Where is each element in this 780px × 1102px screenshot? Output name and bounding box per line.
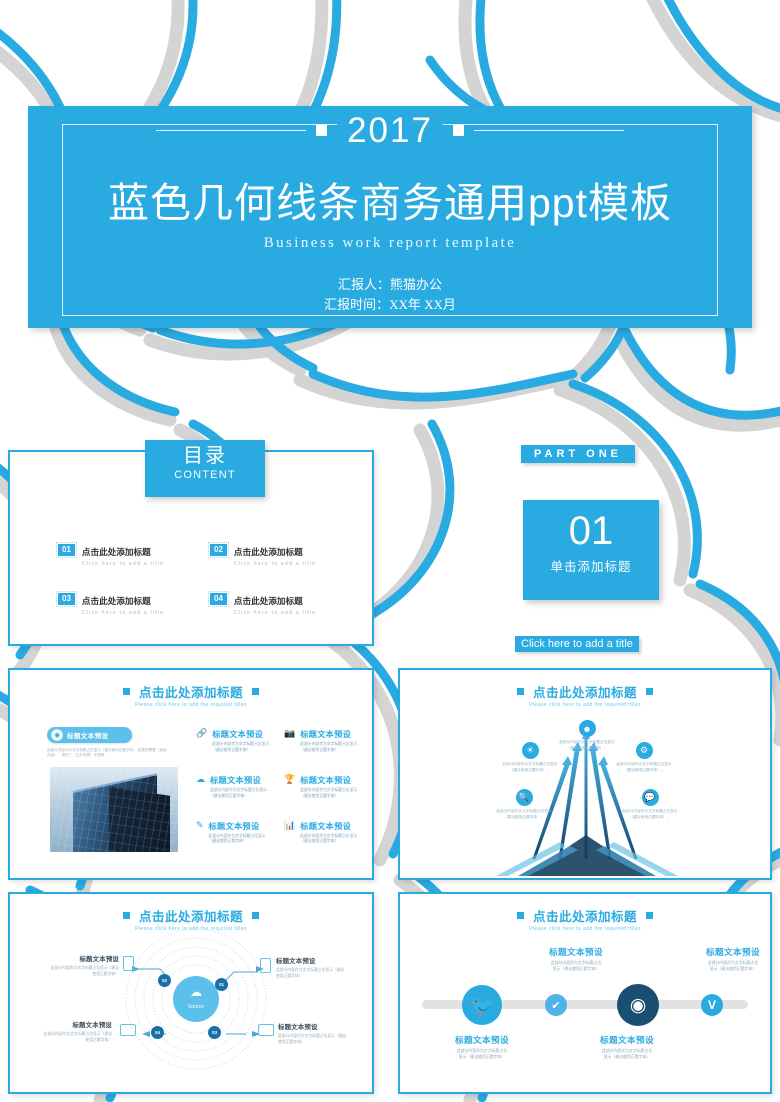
part-cta-button[interactable]: Click here to add a title xyxy=(515,636,639,652)
year-label: 2017 xyxy=(337,113,443,148)
feature-title: 标题文本预设 xyxy=(209,820,266,832)
social-caption-below-2: 标题文本预设 此部分内容作为文字标题占位 显示（建议使用正题字体） xyxy=(575,1034,679,1061)
radar-badge-04[interactable]: 04 xyxy=(151,1026,164,1039)
slide-title: 点击此处添加标题 xyxy=(139,682,243,701)
social-title: 标题文本预设 xyxy=(681,946,780,958)
social-title: 标题文本预设 xyxy=(524,946,628,958)
list-item[interactable]: 02 点击此处添加标题 Click here to add a title xyxy=(210,542,352,567)
search-icon: 🔍 xyxy=(516,789,533,806)
part-number-box: 01 单击添加标题 xyxy=(523,500,659,600)
radar-body: 此部分内容作为文字标题占位显示（建议使用正题字体） xyxy=(276,967,348,979)
title-slide: 2017 蓝色几何线条商务通用ppt模板 Business work repor… xyxy=(28,106,752,328)
converging-arrows-graphic xyxy=(400,670,774,882)
catalog-item-subtitle: Click here to add a title xyxy=(234,610,316,616)
building-photo xyxy=(50,767,178,852)
catalog-badge-cn: 目录 xyxy=(145,440,265,469)
building-body-text: 此部分内容作为文字标题占位显示（建议使用正题字体） 如果您需要（适用内容），请在… xyxy=(47,748,167,759)
arrow-node-body: 此部分内容作为文字标题占位显示 （建议使用正题字体）。 xyxy=(482,762,578,774)
arrow-node[interactable]: ☀ 此部分内容作为文字标题占位显示 （建议使用正题字体）。 xyxy=(482,742,578,774)
chart-icon: 📊 xyxy=(284,821,295,846)
presenter-name: 汇报人：熊猫办公 xyxy=(63,275,717,295)
catalog-item-number: 01 xyxy=(58,544,75,556)
radar-rings-graphic: ☁ Source xyxy=(10,894,376,1096)
catalog-badge: 目录 CONTENT xyxy=(145,440,265,497)
catalog-item-title: 点击此处添加标题 xyxy=(82,596,151,606)
slide-subtitle: Please click here to add the required ti… xyxy=(400,926,770,932)
globe-icon: ◉ xyxy=(51,729,63,741)
radar-body: 此部分内容作为文字标题占位显示（建议使用正题字体） xyxy=(47,965,119,977)
building-slide[interactable]: 点击此处添加标题 Please click here to add the re… xyxy=(8,668,374,880)
radar-title: 标题文本预设 xyxy=(278,1022,350,1031)
radar-title: 标题文本预设 xyxy=(40,1020,112,1029)
list-item[interactable]: ✎ 标题文本预设 此部分内容作为文字标题占位显示 （建议使用正题字体） xyxy=(196,820,276,846)
page-subtitle: Business work report template xyxy=(63,235,717,252)
feature-body: 此部分内容作为文字标题占位显示 （建议使用正题字体） xyxy=(212,742,269,754)
social-body: 此部分内容作为文字标题占位 显示（建议使用正题字体） xyxy=(575,1048,679,1061)
slide-header: 点击此处添加标题 Please click here to add the re… xyxy=(400,906,770,932)
list-item[interactable]: 📊 标题文本预设 此部分内容作为文字标题占位显示 （建议使用正题字体） xyxy=(284,820,364,846)
photo-window-grid xyxy=(50,767,178,852)
arrow-node[interactable]: ⚙ 此部分内容作为文字标题占位显示 （建议使用正题字体）。 xyxy=(596,742,692,774)
square-marker-left xyxy=(316,125,327,136)
radar-label-02[interactable]: 标题文本预设 此部分内容作为文字标题占位显示（建议使用正题字体） xyxy=(47,954,119,977)
list-item[interactable]: 01 点击此处添加标题 Click here to add a title xyxy=(58,542,200,567)
arrows-slide[interactable]: 点击此处添加标题 Please click here to add the re… xyxy=(398,668,772,880)
slide-title: 点击此处添加标题 xyxy=(533,906,637,925)
catalog-item-title: 点击此处添加标题 xyxy=(234,596,303,606)
slide-header: 点击此处添加标题 Please click here to add the re… xyxy=(10,682,372,708)
social-title: 标题文本预设 xyxy=(575,1034,679,1046)
check-icon[interactable]: ✔ xyxy=(545,994,567,1016)
radar-slide[interactable]: 点击此处添加标题 Please click here to add the re… xyxy=(8,892,374,1094)
building-badge-label: 标题文本预设 xyxy=(67,730,108,740)
social-caption-above-1: 标题文本预设 此部分内容作为文字标题占位 显示（建议使用正题字体） xyxy=(524,946,628,973)
radar-title: 标题文本预设 xyxy=(276,956,348,965)
square-marker-right xyxy=(453,125,464,136)
presentation-date: 汇报时间：XX年 XX月 xyxy=(63,295,717,315)
list-item[interactable]: ☁ 标题文本预设 此部分内容作为文字标题占位显示 （建议使用正题字体） xyxy=(196,774,276,800)
square-marker-right xyxy=(252,688,259,695)
catalog-list: 01 点击此处添加标题 Click here to add a title 02… xyxy=(58,542,352,616)
catalog-badge-en: CONTENT xyxy=(145,469,265,481)
rule-left xyxy=(156,130,306,131)
catalog-item-number: 02 xyxy=(210,544,227,556)
feature-list: 🔗 标题文本预设 此部分内容作为文字标题占位显示 （建议使用正题字体） 📷 标题… xyxy=(196,728,364,845)
social-timeline-slide[interactable]: 点击此处添加标题 Please click here to add the re… xyxy=(398,892,772,1094)
rule-right xyxy=(474,130,624,131)
title-slide-frame: 2017 蓝色几何线条商务通用ppt模板 Business work repor… xyxy=(62,124,718,316)
instagram-icon[interactable]: ◉ xyxy=(617,984,659,1026)
svg-text:☁: ☁ xyxy=(190,985,202,999)
list-item[interactable]: 04 点击此处添加标题 Click here to add a title xyxy=(210,591,352,616)
radar-badge-03[interactable]: 03 xyxy=(208,1026,221,1039)
feature-title: 标题文本预设 xyxy=(212,728,269,740)
page-title: 蓝色几何线条商务通用ppt模板 xyxy=(63,169,717,229)
feature-title: 标题文本预设 xyxy=(300,728,357,740)
vimeo-icon[interactable]: V xyxy=(701,994,723,1016)
social-body: 此部分内容作为文字标题占位 显示（建议使用正题字体） xyxy=(524,960,628,973)
radar-body: 此部分内容作为文字标题占位显示（建议使用正题字体） xyxy=(278,1033,350,1045)
square-marker-left xyxy=(123,688,130,695)
camera-icon: 📷 xyxy=(284,729,295,754)
feature-body: 此部分内容作为文字标题占位显示 （建议使用正题字体） xyxy=(300,742,357,754)
cloud-icon: ☁ xyxy=(196,775,205,800)
list-item[interactable]: 🔗 标题文本预设 此部分内容作为文字标题占位显示 （建议使用正题字体） xyxy=(196,728,276,754)
year-row: 2017 xyxy=(63,113,717,148)
feature-title: 标题文本预设 xyxy=(300,820,357,832)
feature-title: 标题文本预设 xyxy=(210,774,267,786)
square-marker-right xyxy=(646,912,653,919)
list-item[interactable]: 03 点击此处添加标题 Click here to add a title xyxy=(58,591,200,616)
slide-title-row: 点击此处添加标题 xyxy=(517,906,653,925)
feature-title: 标题文本预设 xyxy=(300,774,357,786)
part-number: 01 xyxy=(523,500,659,556)
link-icon: 🔗 xyxy=(196,729,207,754)
laptop-icon xyxy=(258,1024,274,1036)
catalog-slide[interactable]: 目录 CONTENT 01 点击此处添加标题 Click here to add… xyxy=(8,450,374,646)
list-item[interactable]: 📷 标题文本预设 此部分内容作为文字标题占位显示 （建议使用正题字体） xyxy=(284,728,364,754)
radar-badge-02[interactable]: 02 xyxy=(158,974,171,987)
list-item[interactable]: 🏆 标题文本预设 此部分内容作为文字标题占位显示 （建议使用正题字体） xyxy=(284,774,364,800)
catalog-item-title: 点击此处添加标题 xyxy=(82,547,151,557)
gear-icon: ⚙ xyxy=(636,742,653,759)
user-icon: ☻ xyxy=(579,720,596,737)
svg-text:Source: Source xyxy=(188,1004,204,1010)
arrow-node-body: 此部分内容作为文字标题占位显示 （建议使用正题字体）。 xyxy=(602,809,698,821)
feature-body: 此部分内容作为文字标题占位显示 （建议使用正题字体） xyxy=(209,834,266,846)
arrow-node[interactable]: 💬 此部分内容作为文字标题占位显示 （建议使用正题字体）。 xyxy=(602,789,698,821)
phone-icon-right xyxy=(260,958,271,973)
building-badge: ◉ 标题文本预设 xyxy=(47,727,132,743)
catalog-item-number: 03 xyxy=(58,593,75,605)
catalog-item-title: 点击此处添加标题 xyxy=(234,547,303,557)
social-body: 此部分内容作为文字标题占位 显示（建议使用正题字体） xyxy=(681,960,780,973)
radar-body: 此部分内容作为文字标题占位显示（建议使用正题字体） xyxy=(40,1031,112,1043)
catalog-item-subtitle: Click here to add a title xyxy=(234,561,316,567)
bulb-icon: ☀ xyxy=(522,742,539,759)
radar-label-01[interactable]: 标题文本预设 此部分内容作为文字标题占位显示（建议使用正题字体） xyxy=(276,956,348,979)
twitter-icon[interactable]: 🐦 xyxy=(462,985,502,1025)
arrow-node[interactable]: 🔍 此部分内容作为文字标题占位显示 （建议使用正题字体）。 xyxy=(476,789,572,821)
arrow-node-body: 此部分内容作为文字标题占位显示 （建议使用正题字体）。 xyxy=(476,809,572,821)
social-body: 此部分内容作为文字标题占位 显示（建议使用正题字体） xyxy=(430,1048,534,1061)
radar-label-03[interactable]: 标题文本预设 此部分内容作为文字标题占位显示（建议使用正题字体） xyxy=(278,1022,350,1045)
radar-label-04[interactable]: 标题文本预设 此部分内容作为文字标题占位显示（建议使用正题字体） xyxy=(40,1020,112,1043)
pen-icon: ✎ xyxy=(196,821,204,846)
radar-badge-01[interactable]: 01 xyxy=(215,978,228,991)
radar-title: 标题文本预设 xyxy=(47,954,119,963)
social-caption-above-2: 标题文本预设 此部分内容作为文字标题占位 显示（建议使用正题字体） xyxy=(681,946,780,973)
part-label: PART ONE xyxy=(521,445,635,463)
feature-body: 此部分内容作为文字标题占位显示 （建议使用正题字体） xyxy=(210,788,267,800)
social-caption-below-1: 标题文本预设 此部分内容作为文字标题占位 显示（建议使用正题字体） xyxy=(430,1034,534,1061)
arrow-node-body: 此部分内容作为文字标题占位显示 （建议使用正题字体）。 xyxy=(596,762,692,774)
square-marker-left xyxy=(517,912,524,919)
catalog-item-subtitle: Click here to add a title xyxy=(82,561,164,567)
catalog-item-number: 04 xyxy=(210,593,227,605)
phone-icon-left xyxy=(123,956,134,971)
part-one-slide[interactable]: PART ONE 01 单击添加标题 Click here to add a t… xyxy=(398,440,772,656)
catalog-item-subtitle: Click here to add a title xyxy=(82,610,164,616)
feature-body: 此部分内容作为文字标题占位显示 （建议使用正题字体） xyxy=(300,788,357,800)
slide-subtitle: Please click here to add the required ti… xyxy=(10,702,372,708)
slide-title-row: 点击此处添加标题 xyxy=(123,682,259,701)
trophy-icon: 🏆 xyxy=(284,775,295,800)
monitor-icon xyxy=(120,1024,136,1036)
chat-icon: 💬 xyxy=(642,789,659,806)
part-caption: 单击添加标题 xyxy=(523,556,659,575)
social-title: 标题文本预设 xyxy=(430,1034,534,1046)
presenter-meta: 汇报人：熊猫办公 汇报时间：XX年 XX月 xyxy=(63,275,717,315)
feature-body: 此部分内容作为文字标题占位显示 （建议使用正题字体） xyxy=(300,834,357,846)
